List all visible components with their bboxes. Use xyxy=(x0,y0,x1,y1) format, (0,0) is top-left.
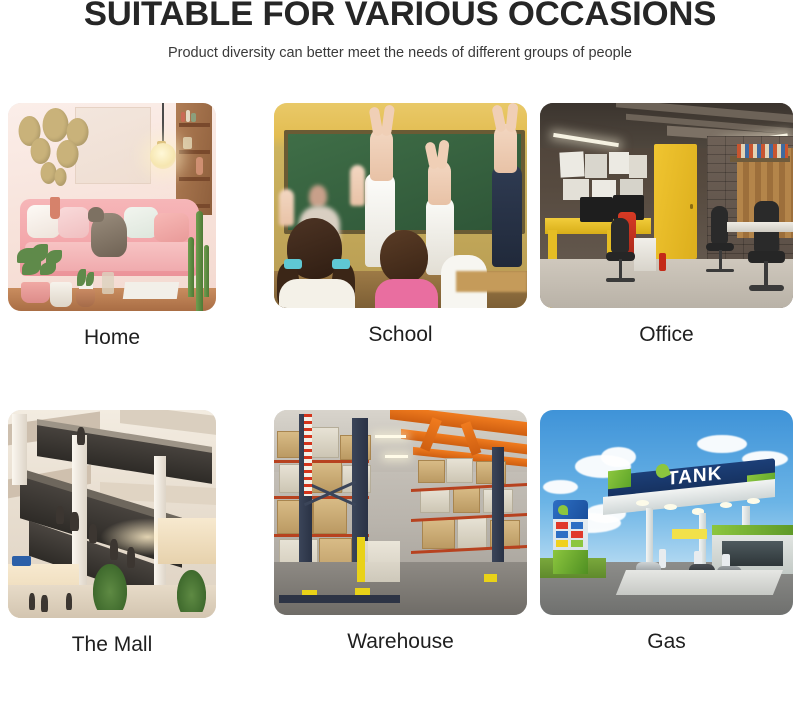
mall-shopper-5 xyxy=(127,547,135,568)
forecourt-apron xyxy=(616,570,783,595)
office-chair-middle xyxy=(702,206,740,284)
right-desk xyxy=(727,222,793,232)
photo-mall xyxy=(8,410,216,618)
mall-shopper-7 xyxy=(29,593,35,610)
store-awning xyxy=(712,525,793,535)
cloud-7 xyxy=(543,480,578,494)
page-subtitle: Product diversity can better meet the ne… xyxy=(0,44,800,62)
mall-shopper-8 xyxy=(41,595,47,612)
raised-arm-center xyxy=(370,128,393,181)
pillow-4 xyxy=(154,213,189,242)
rack-base-rail xyxy=(279,595,400,603)
tall-cactus xyxy=(187,211,214,311)
pallet-wrapped-goods xyxy=(365,541,400,582)
canopy-green-stripe-left xyxy=(608,469,631,490)
mall-shopper-3 xyxy=(89,524,97,543)
mall-column-left xyxy=(12,414,27,485)
mall-shopper-9 xyxy=(66,593,72,610)
occasions-row-1: Home xyxy=(0,103,800,406)
teacher-head xyxy=(309,185,327,208)
occasion-label-home: Home xyxy=(8,325,216,351)
warehouse-floor xyxy=(274,562,527,615)
occasion-label-office: Office xyxy=(540,322,793,348)
pillow-2 xyxy=(58,207,89,238)
shelf-files xyxy=(737,144,788,158)
mall-sign xyxy=(12,556,31,566)
floor-plant-small xyxy=(70,269,103,306)
floor-guard-3 xyxy=(484,574,497,582)
rack-leg-guard xyxy=(357,537,365,582)
store-signage xyxy=(672,529,707,539)
occasion-card-warehouse[interactable]: Warehouse xyxy=(274,410,527,655)
page-title: SUITABLE FOR VARIOUS OCCASIONS xyxy=(0,0,800,31)
photo-home xyxy=(8,103,216,311)
mall-shopper-6 xyxy=(77,427,85,446)
occasion-label-mall: The Mall xyxy=(8,632,216,658)
red-ladder xyxy=(304,414,312,496)
mall-shopper-2 xyxy=(70,512,78,531)
occasion-label-gas: Gas xyxy=(540,629,793,655)
store-window xyxy=(722,541,783,566)
mall-shopper-1 xyxy=(56,506,64,525)
mall-shopfront-right xyxy=(158,518,216,564)
child-body-2 xyxy=(375,279,438,308)
white-planter xyxy=(50,282,73,307)
pillow-3 xyxy=(124,207,157,238)
pendant-lamp-cord xyxy=(162,103,164,145)
occasion-card-gas[interactable]: TANK xyxy=(540,410,793,655)
table-book xyxy=(123,282,179,299)
occasion-card-mall[interactable]: The Mall xyxy=(8,410,216,658)
mall-shopper-4 xyxy=(110,539,118,560)
canopy-pillar-1 xyxy=(646,508,652,561)
office-chair-left xyxy=(601,218,641,292)
raised-arm-far-left-2 xyxy=(279,189,294,226)
occasion-label-school: School xyxy=(274,322,527,348)
occasions-row-2: The Mall xyxy=(0,410,800,713)
photo-warehouse xyxy=(274,410,527,615)
office-chair-right xyxy=(745,201,791,299)
price-pylon-sign xyxy=(553,500,588,574)
occasion-card-school[interactable]: School xyxy=(274,103,527,348)
child-body-1 xyxy=(279,279,355,308)
classroom-desk xyxy=(456,271,527,292)
mall-plant xyxy=(93,564,126,610)
hair-tie-1 xyxy=(284,259,302,269)
hair-tie-2 xyxy=(332,259,350,269)
yellow-door[interactable] xyxy=(654,144,697,259)
mall-plant-right xyxy=(177,570,206,612)
occasion-card-office[interactable]: Office xyxy=(540,103,793,348)
sofa-vase xyxy=(50,197,60,220)
photo-gas: TANK xyxy=(540,410,793,615)
raised-arm-far-left xyxy=(350,165,365,206)
home-wall-art xyxy=(75,107,152,184)
occasion-card-home[interactable]: Home xyxy=(8,103,216,351)
cat xyxy=(91,213,126,257)
photo-office xyxy=(540,103,793,308)
raised-arm-sleeve-right xyxy=(492,165,522,268)
cloud-5 xyxy=(697,435,748,453)
fire-extinguisher xyxy=(659,253,667,271)
occasion-label-warehouse: Warehouse xyxy=(274,629,527,655)
photo-school xyxy=(274,103,527,308)
child-head-2 xyxy=(380,230,428,283)
